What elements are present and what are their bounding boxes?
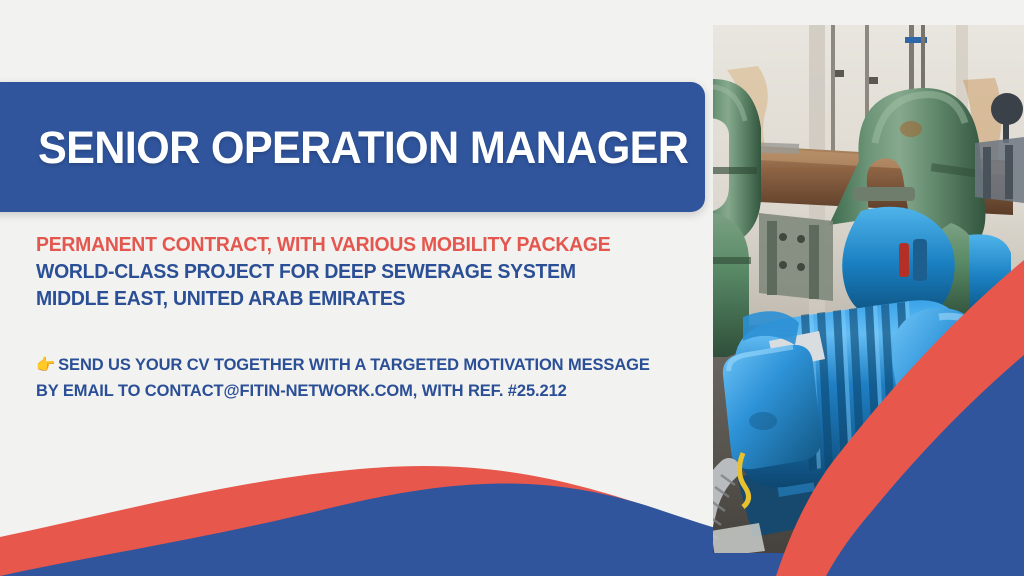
job-title-banner: SENIOR OPERATION MANAGER	[0, 82, 705, 212]
call-to-action-block: 👉SEND US YOUR CV TOGETHER WITH A TARGETE…	[36, 352, 716, 403]
location-line: MIDDLE EAST, UNITED ARAB EMIRATES	[36, 286, 676, 313]
contract-type-line: PERMANENT CONTRACT, WITH VARIOUS MOBILIT…	[36, 232, 676, 259]
pump-station-photo	[713, 25, 1024, 553]
cta-instruction-text: SEND US YOUR CV TOGETHER WITH A TARGETED…	[58, 355, 650, 374]
cta-line-1: 👉SEND US YOUR CV TOGETHER WITH A TARGETE…	[36, 352, 696, 378]
cta-line-2: BY EMAIL TO CONTACT@FITIN-NETWORK.COM, W…	[36, 378, 696, 403]
job-details-block: PERMANENT CONTRACT, WITH VARIOUS MOBILIT…	[36, 232, 696, 313]
photo-illustration	[713, 25, 1024, 553]
page-title: SENIOR OPERATION MANAGER	[38, 125, 688, 170]
project-description-line: WORLD-CLASS PROJECT FOR DEEP SEWERAGE SY…	[36, 259, 676, 286]
pointing-hand-icon: 👉	[36, 357, 55, 374]
job-advert-poster: SENIOR OPERATION MANAGER PERMANENT CONTR…	[0, 0, 1024, 576]
